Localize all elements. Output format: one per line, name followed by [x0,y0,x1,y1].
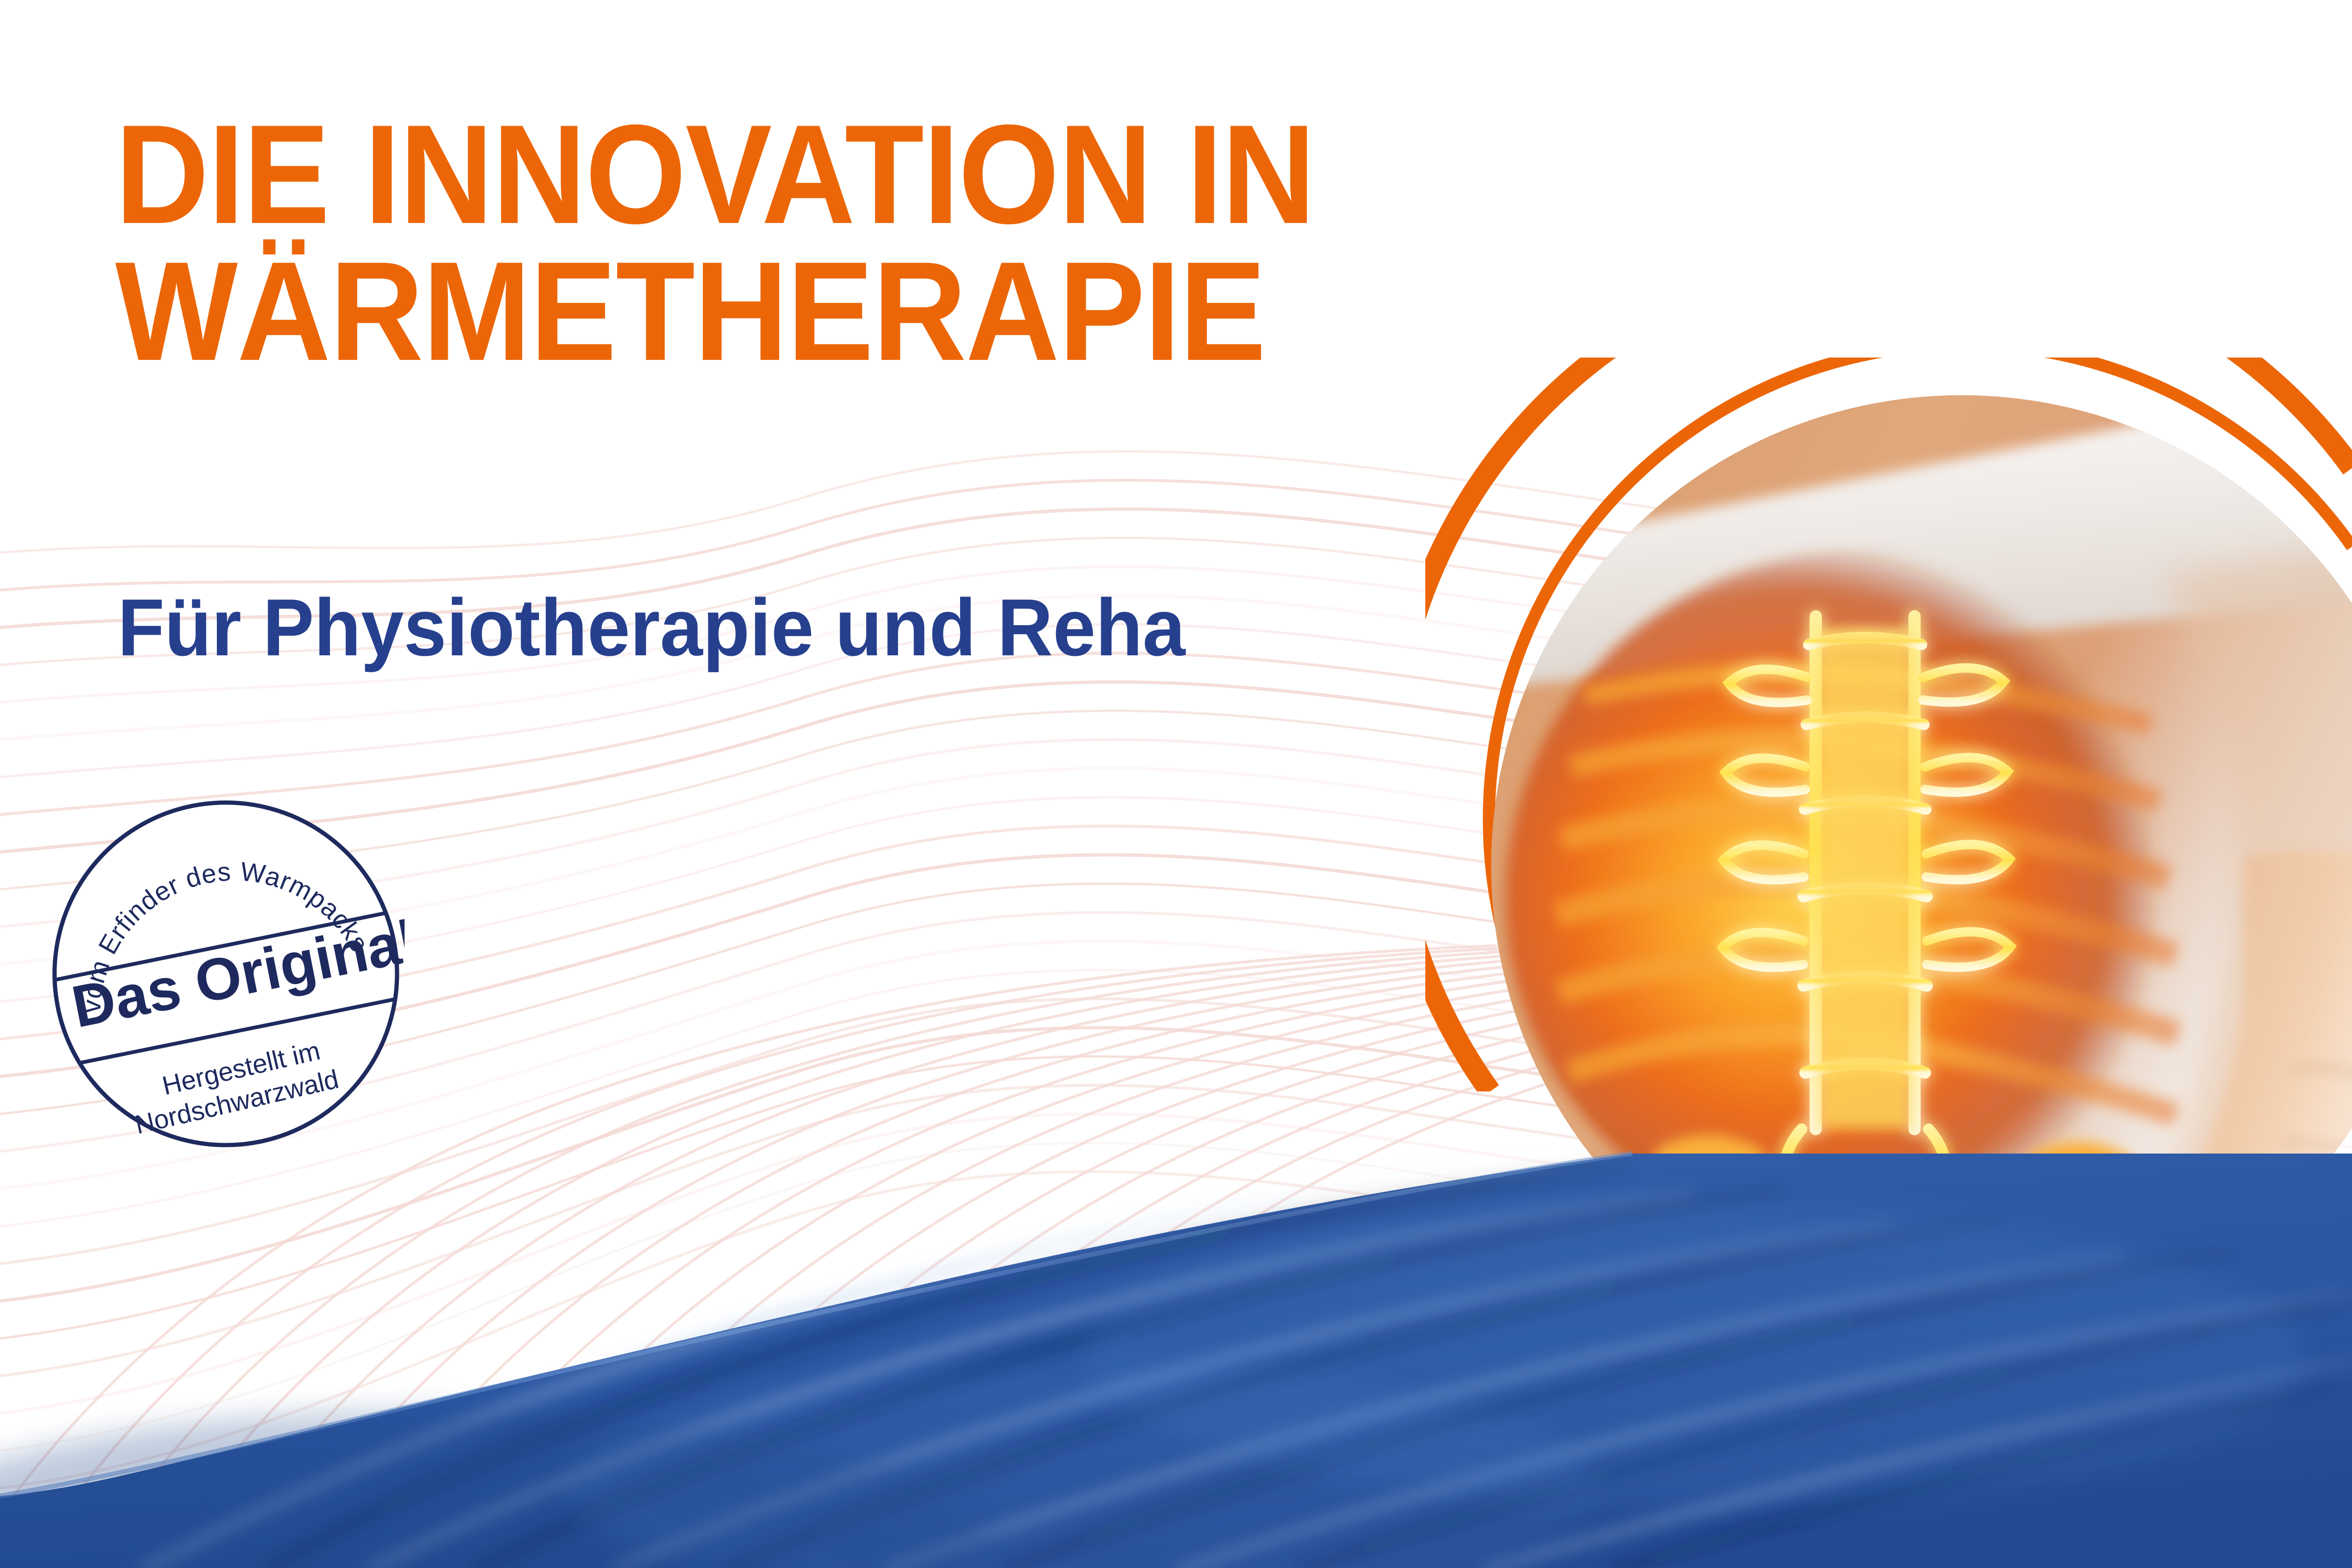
subtitle: Für Physiotherapie und Reha [118,587,1185,668]
hero-photo-group [1425,358,2352,1091]
headline-line-2: WÄRMETHERAPIE [115,243,1315,380]
marketing-banner: DIE INNOVATION IN WÄRMETHERAPIE Für Phys… [0,0,2352,1568]
headline-block: DIE INNOVATION IN WÄRMETHERAPIE [115,106,1419,380]
headline-line-1: DIE INNOVATION IN [115,106,1315,243]
blue-heat-pack-blanket [0,1026,2352,1568]
